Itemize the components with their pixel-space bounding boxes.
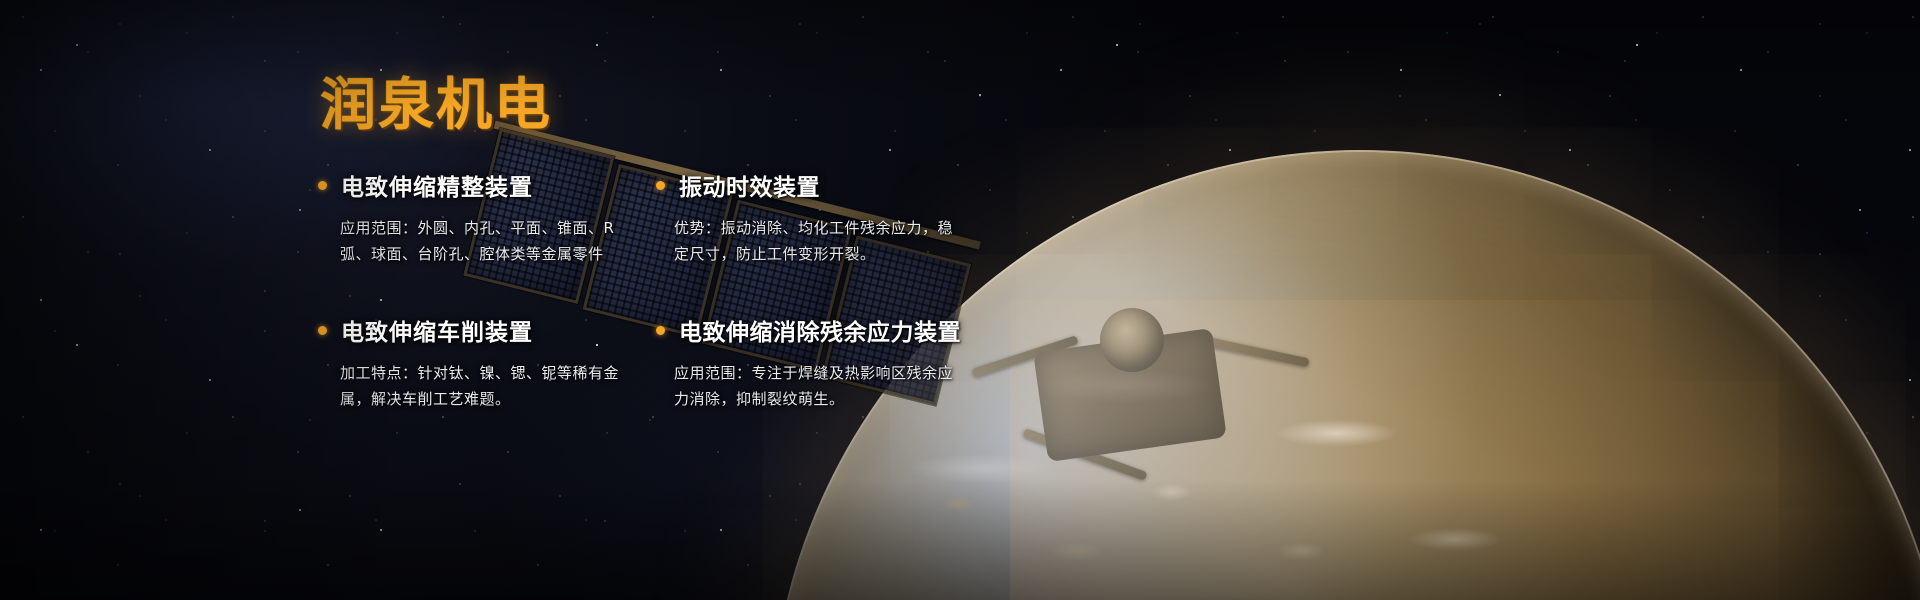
feature-description: 应用范围：专注于焊缝及热影响区残余应力消除，抑制裂纹萌生。: [674, 360, 966, 412]
feature-title: 振动时效装置: [679, 168, 820, 202]
feature-item-electrostrictive-turning[interactable]: 电致伸缩车削装置 加工特点：针对钛、镍、锶、铌等稀有金属，解决车削工艺难题。: [318, 313, 648, 412]
feature-description: 加工特点：针对钛、镍、锶、铌等稀有金属，解决车削工艺难题。: [340, 360, 632, 412]
feature-heading: 电致伸缩车削装置: [318, 313, 648, 347]
feature-heading: 电致伸缩精整装置: [318, 168, 648, 202]
feature-description: 优势：振动消除、均化工件残余应力，稳定尺寸，防止工件变形开裂。: [674, 215, 966, 267]
bullet-dot-icon: [656, 181, 665, 190]
bullet-dot-icon: [318, 181, 327, 190]
hero-banner: 润泉机电 电致伸缩精整装置 应用范围：外圆、内孔、平面、锥面、R弧、球面、台阶孔…: [0, 0, 1920, 600]
feature-grid: 电致伸缩精整装置 应用范围：外圆、内孔、平面、锥面、R弧、球面、台阶孔、腔体类等…: [318, 168, 998, 412]
antenna-dish-icon: [1100, 308, 1164, 372]
feature-item-electrostrictive-finishing[interactable]: 电致伸缩精整装置 应用范围：外圆、内孔、平面、锥面、R弧、球面、台阶孔、腔体类等…: [318, 168, 648, 267]
feature-title: 电致伸缩车削装置: [341, 313, 533, 347]
feature-row: 电致伸缩车削装置 加工特点：针对钛、镍、锶、铌等稀有金属，解决车削工艺难题。 电…: [318, 313, 998, 412]
feature-heading: 电致伸缩消除残余应力装置: [656, 313, 986, 347]
feature-description: 应用范围：外圆、内孔、平面、锥面、R弧、球面、台阶孔、腔体类等金属零件: [340, 215, 632, 267]
feature-heading: 振动时效装置: [656, 168, 986, 202]
bullet-dot-icon: [318, 326, 327, 335]
brand-title: 润泉机电: [320, 78, 552, 134]
bullet-dot-icon: [656, 326, 665, 335]
feature-title: 电致伸缩精整装置: [341, 168, 533, 202]
feature-row: 电致伸缩精整装置 应用范围：外圆、内孔、平面、锥面、R弧、球面、台阶孔、腔体类等…: [318, 168, 998, 267]
feature-item-residual-stress-relief[interactable]: 电致伸缩消除残余应力装置 应用范围：专注于焊缝及热影响区残余应力消除，抑制裂纹萌…: [656, 313, 986, 412]
feature-item-vibration-aging[interactable]: 振动时效装置 优势：振动消除、均化工件残余应力，稳定尺寸，防止工件变形开裂。: [656, 168, 986, 267]
feature-title: 电致伸缩消除残余应力装置: [679, 313, 961, 347]
banner-content: 润泉机电 电致伸缩精整装置 应用范围：外圆、内孔、平面、锥面、R弧、球面、台阶孔…: [0, 0, 1100, 600]
